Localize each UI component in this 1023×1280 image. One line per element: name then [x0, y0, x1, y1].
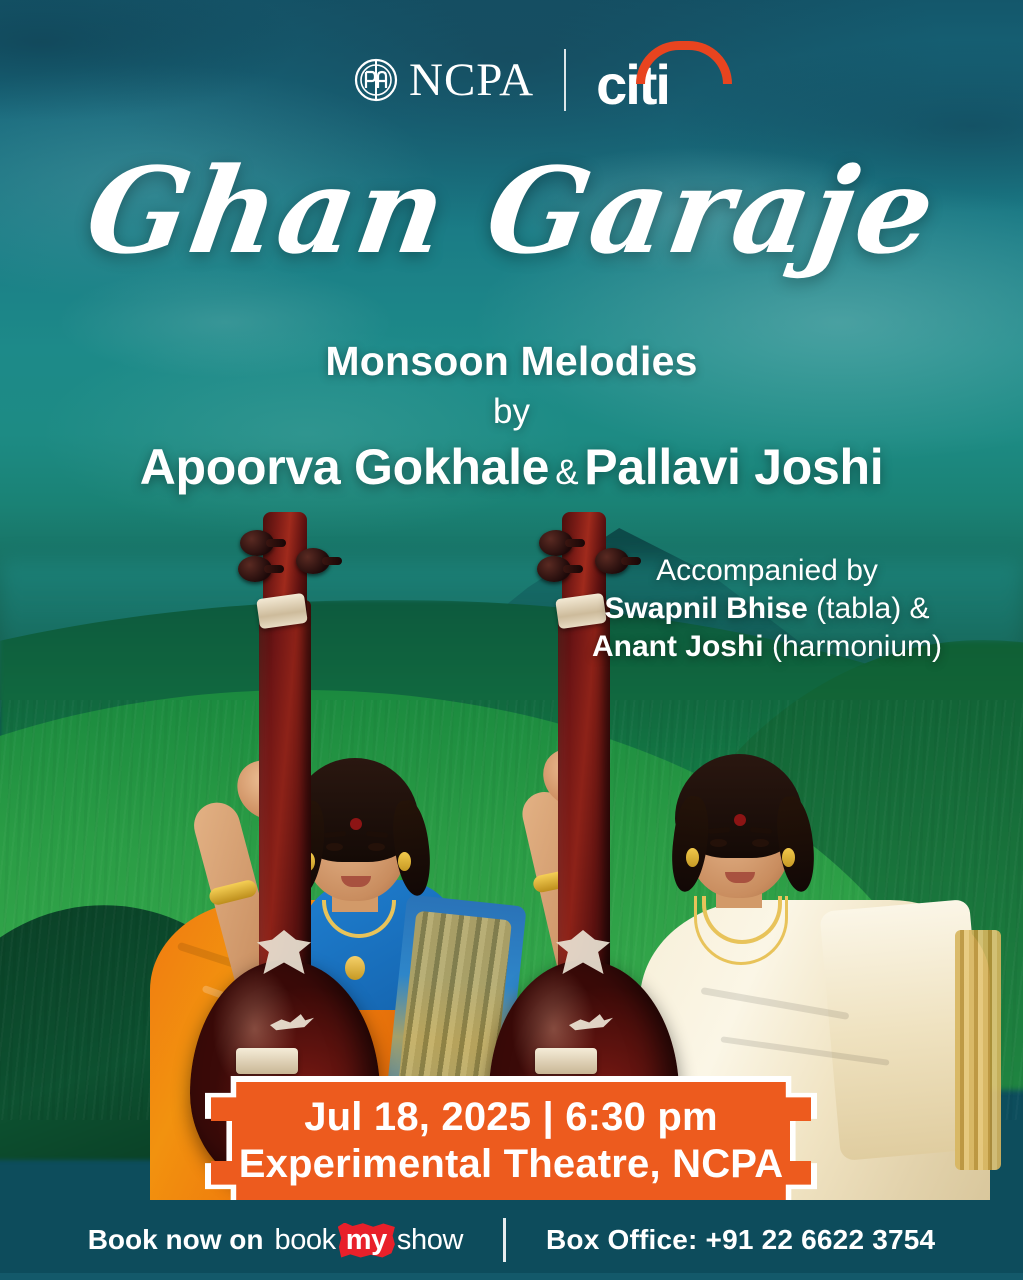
eye-right — [368, 843, 385, 851]
artist-names: Apoorva Gokhale&Pallavi Joshi — [0, 438, 1023, 496]
logo-divider — [564, 49, 566, 111]
bms-show-text: show — [397, 1224, 463, 1257]
accompanist-2-instrument: (harmonium) — [772, 630, 942, 663]
accompanied-by-label: Accompanied by — [557, 552, 977, 590]
earring-left — [686, 848, 699, 867]
artist-ampersand: & — [549, 453, 584, 492]
accompanist-1-instrument: (tabla) & — [816, 592, 929, 625]
book-now-label: Book now on — [88, 1224, 264, 1256]
tuning-peg — [296, 548, 330, 574]
venue-banner-body: Jul 18, 2025 | 6:30 pm Experimental Thea… — [211, 1082, 811, 1200]
sponsor-logo-bar: NCPA citi — [0, 44, 1023, 116]
by-label: by — [0, 392, 1023, 432]
accompanist-2-name: Anant Joshi — [592, 630, 764, 663]
subtitle: Monsoon Melodies — [0, 338, 1023, 385]
ncpa-circular-emblem-icon — [354, 58, 398, 102]
eye-right — [752, 839, 769, 847]
book-now-group[interactable]: Book now on bookmyshow — [88, 1223, 463, 1258]
accompanists-block: Accompanied by Swapnil Bhise (tabla) & A… — [557, 552, 977, 667]
ncpa-logo[interactable]: NCPA — [354, 57, 534, 104]
accompanist-1-name: Swapnil Bhise — [604, 592, 807, 625]
page-title: Ghan Garaje — [0, 150, 1023, 273]
zari-border-right — [955, 930, 1001, 1170]
artist-name-2: Pallavi Joshi — [584, 439, 883, 495]
pendant-left — [345, 956, 365, 980]
bindi-left — [350, 818, 362, 830]
bookmyshow-logo[interactable]: bookmyshow — [274, 1223, 463, 1258]
bms-my-badge: my — [338, 1223, 395, 1258]
footer-divider — [503, 1218, 506, 1262]
citi-logo[interactable]: citi — [596, 47, 669, 113]
bindi-right — [734, 814, 746, 826]
accompanist-1: Swapnil Bhise (tabla) & — [557, 590, 977, 628]
venue-banner: Jul 18, 2025 | 6:30 pm Experimental Thea… — [211, 1082, 811, 1200]
box-office-phone[interactable]: Box Office: +91 22 6622 3754 — [546, 1224, 935, 1256]
earring-right — [398, 852, 411, 871]
eye-left — [710, 839, 727, 847]
citi-red-arc-icon — [636, 41, 732, 84]
tanpura-bridge-right — [535, 1048, 597, 1074]
tuning-peg — [240, 530, 274, 556]
eye-left — [326, 843, 343, 851]
event-venue: Experimental Theatre, NCPA — [239, 1141, 784, 1188]
tuning-peg — [238, 556, 272, 582]
event-poster: NCPA citi Ghan Garaje Monsoon Melodies b… — [0, 0, 1023, 1280]
ncpa-wordmark: NCPA — [409, 57, 534, 104]
bms-book-text: book — [274, 1224, 335, 1257]
tanpura-bridge-left — [236, 1048, 298, 1074]
earring-right — [782, 848, 795, 867]
accompanist-2: Anant Joshi (harmonium) — [557, 628, 977, 666]
artist-name-1: Apoorva Gokhale — [140, 439, 550, 495]
booking-footer: Book now on bookmyshow Box Office: +91 2… — [0, 1200, 1023, 1280]
event-datetime: Jul 18, 2025 | 6:30 pm — [304, 1094, 718, 1141]
